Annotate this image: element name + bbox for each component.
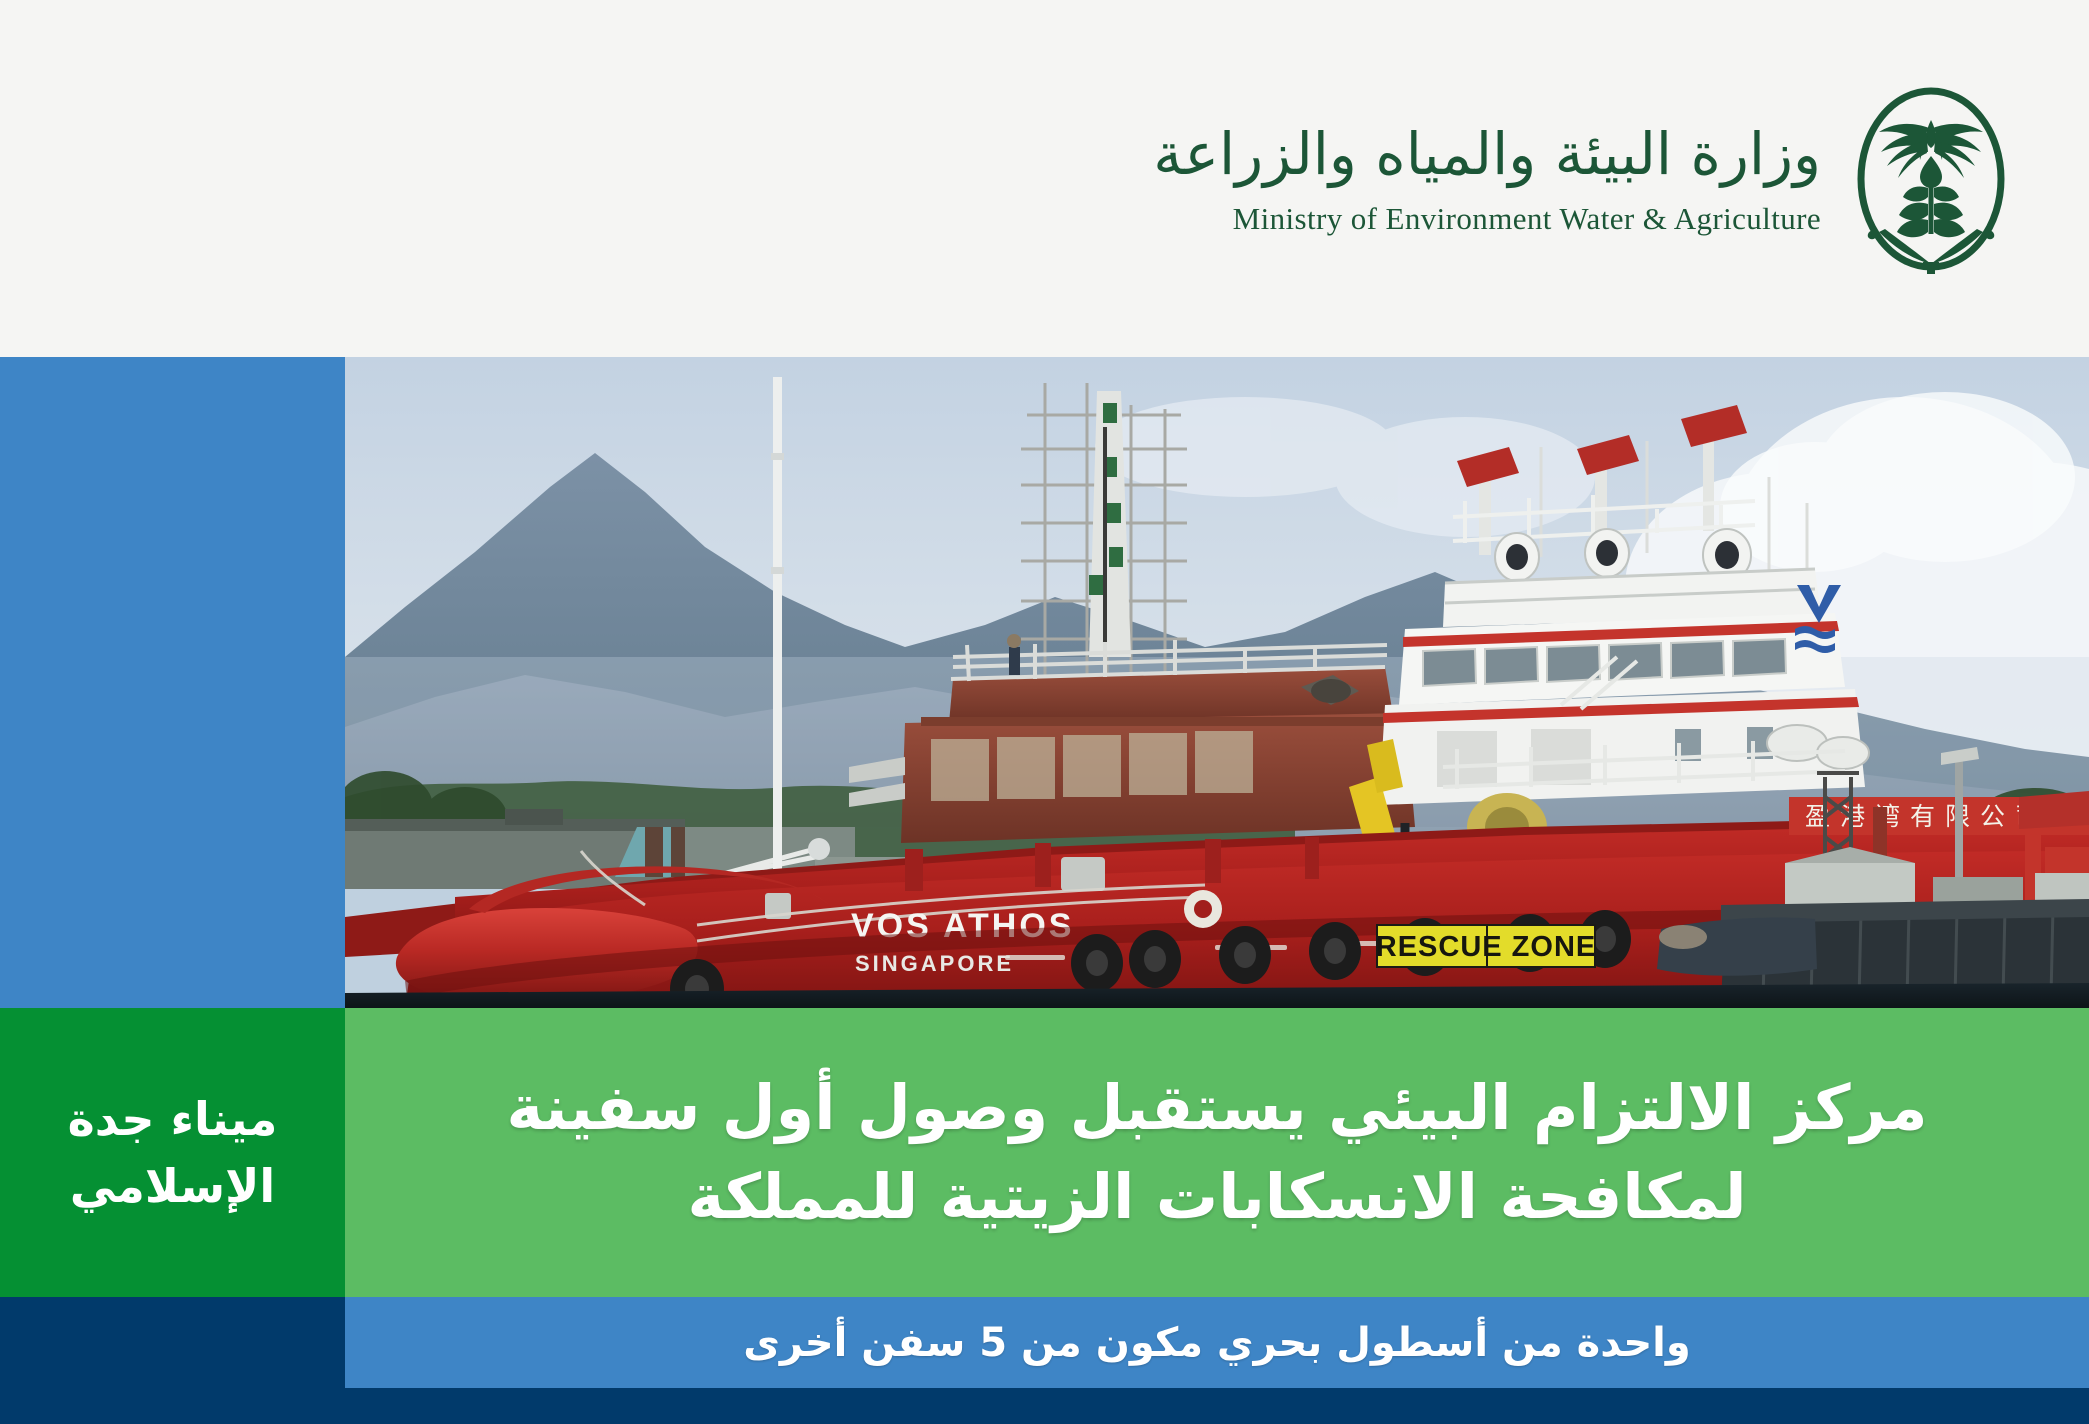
svg-text:RESCUE ZONE: RESCUE ZONE [1376,931,1596,963]
svg-text:SINGAPORE: SINGAPORE [855,951,1014,976]
ship-photo: . . VOS ATHOS VOS ATHOS SINGAPORE [345,357,2089,1008]
ministry-logo: وزارة البيئة والمياه والزراعة Ministry o… [1153,84,2089,274]
sidebar-blue-panel [0,357,345,1008]
ministry-name-arabic: وزارة البيئة والمياه والزراعة [1153,120,1821,188]
header-bar: وزارة البيئة والمياه والزراعة Ministry o… [0,0,2089,357]
subtitle-banner: واحدة من أسطول بحري مكون من 5 سفن أخرى [345,1297,2089,1388]
subtitle-text: واحدة من أسطول بحري مكون من 5 سفن أخرى [743,1320,1691,1366]
port-name-label: ميناء جدة الإسلامي [0,1086,345,1219]
footer-band-left [0,1297,345,1424]
headline-line-1: مركز الالتزام البيئي يستقبل وصول أول سفي… [506,1064,1927,1152]
poster-root: وزارة البيئة والمياه والزراعة Ministry o… [0,0,2089,1424]
footer-band-bottom [345,1388,2089,1424]
saudi-palm-swords-emblem-icon [1851,84,2011,274]
ministry-logo-text: وزارة البيئة والمياه والزراعة Ministry o… [1153,120,1821,236]
headline-line-2: لمكافحة الانسكابات الزيتية للمملكة [687,1153,1746,1241]
ministry-name-english: Ministry of Environment Water & Agricult… [1153,201,1821,237]
headline-banner: مركز الالتزام البيئي يستقبل وصول أول سفي… [345,1008,2089,1297]
sidebar-location-panel: ميناء جدة الإسلامي [0,1008,345,1297]
